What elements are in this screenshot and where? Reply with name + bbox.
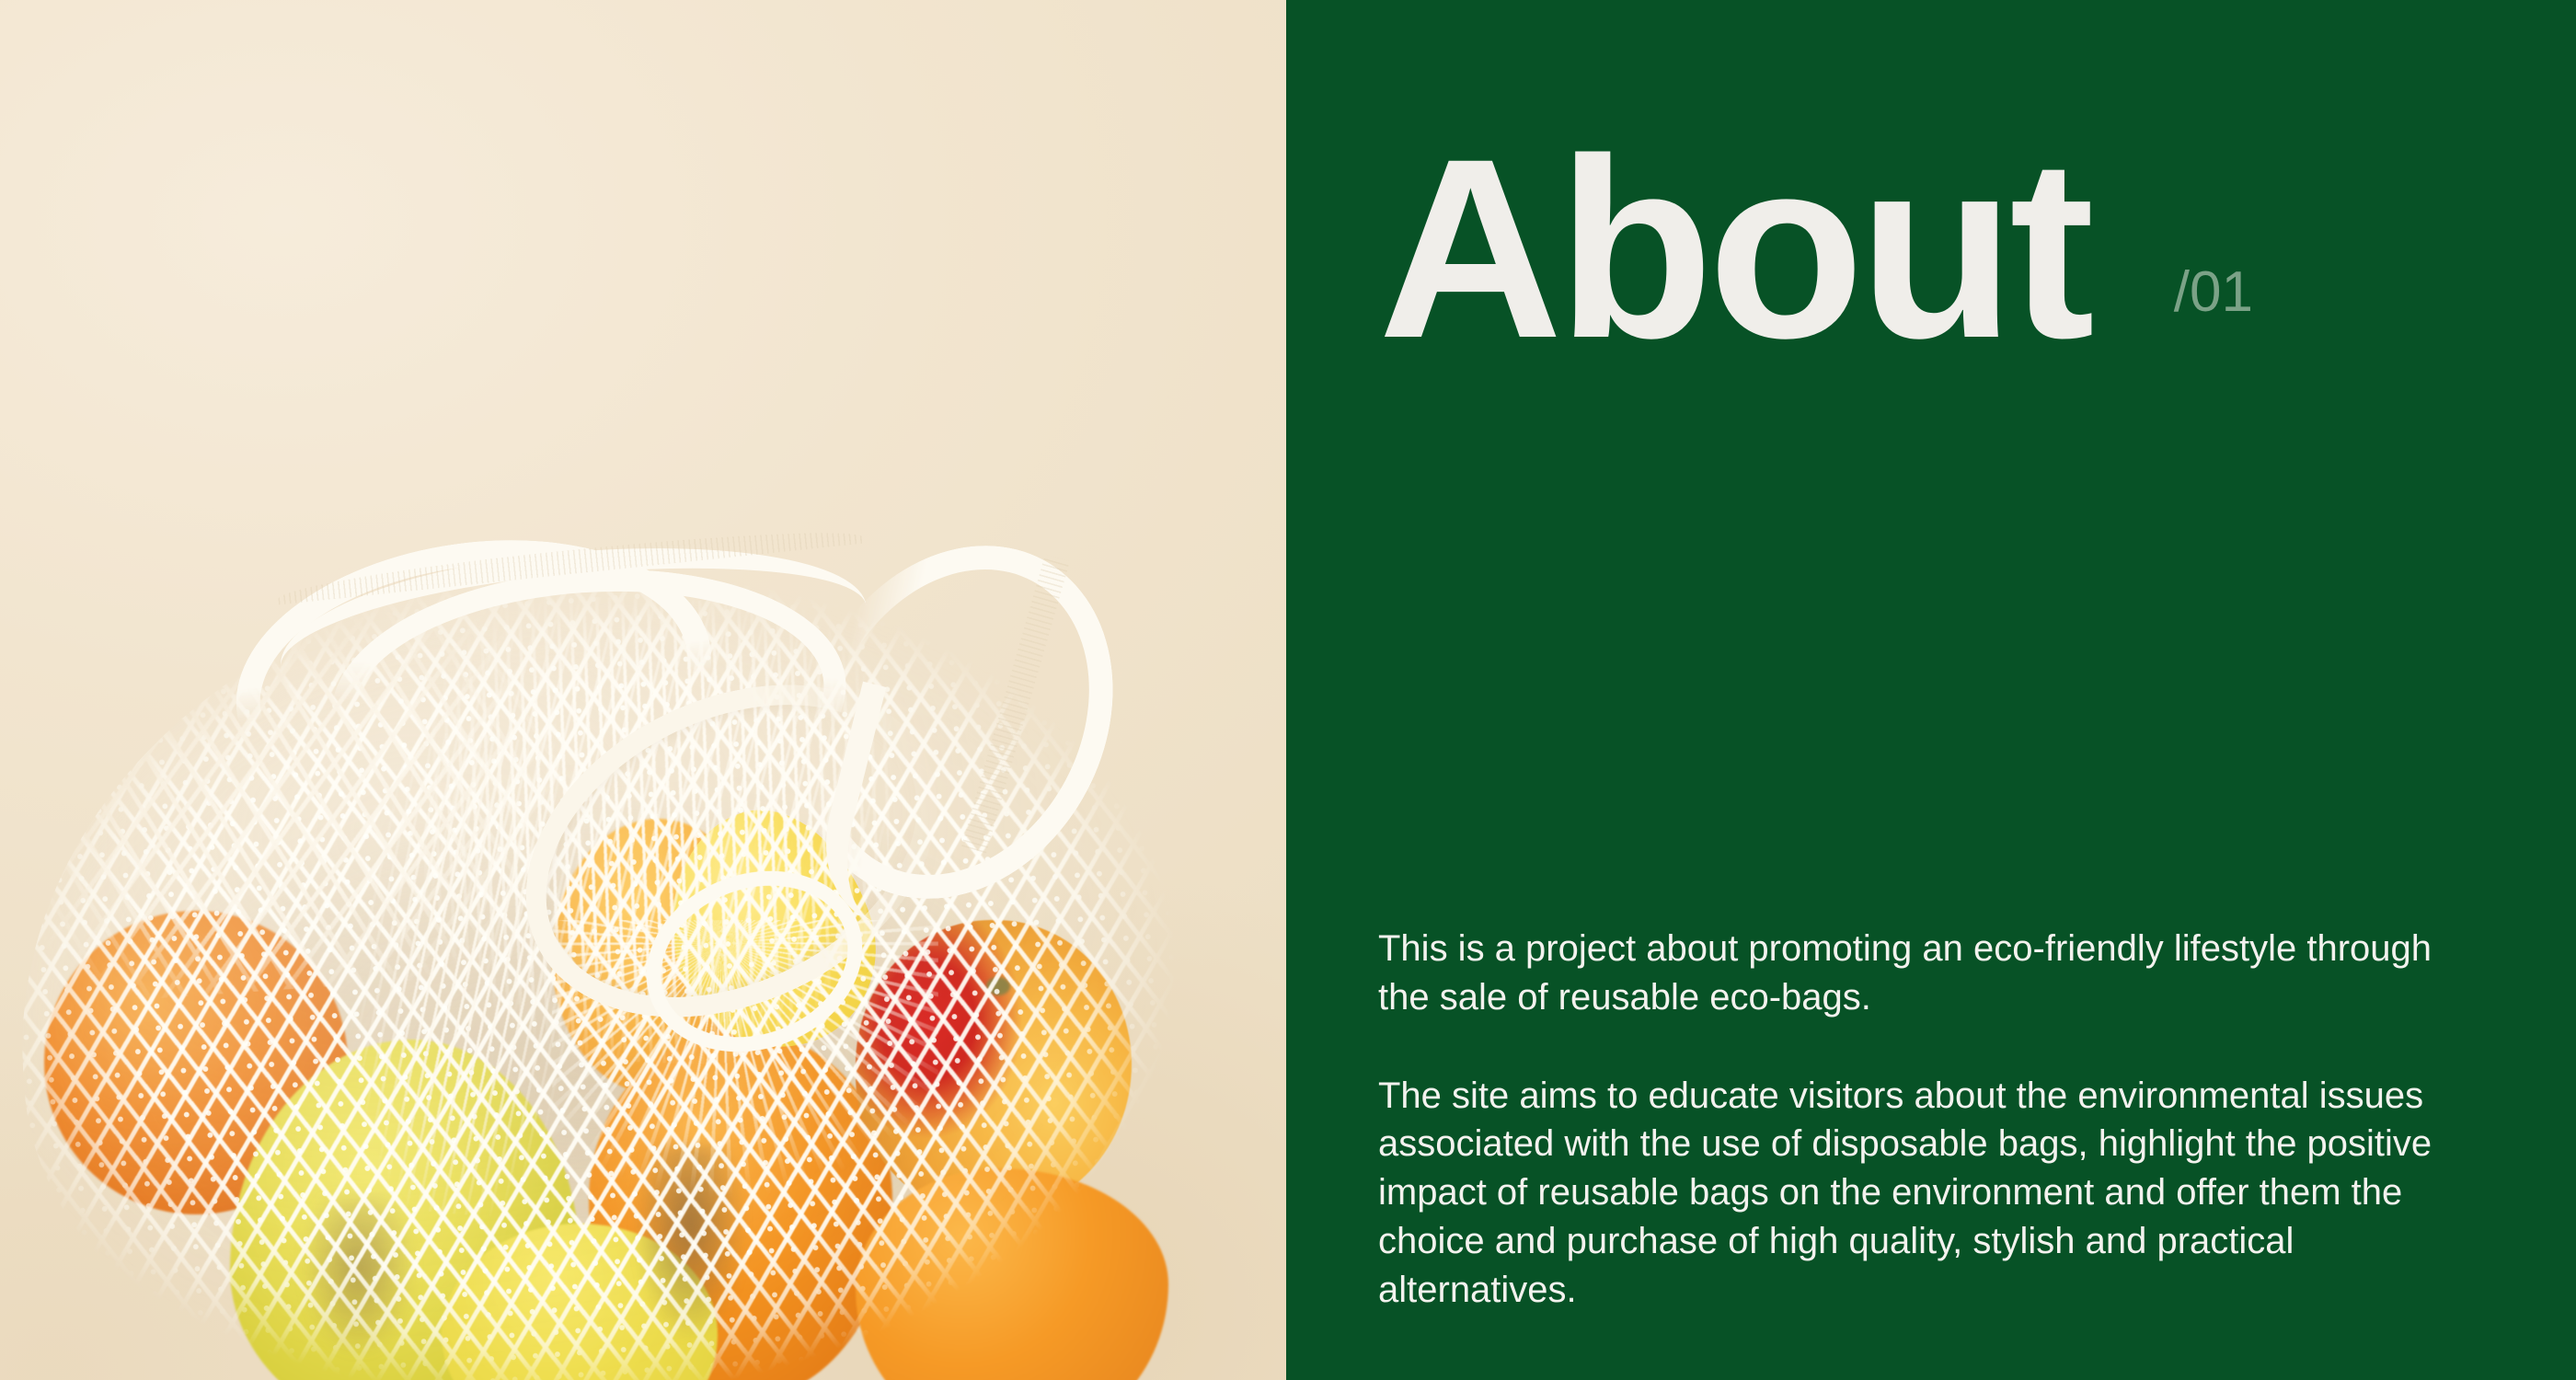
- section-index-label: /01: [2174, 259, 2253, 325]
- section-heading-row: About /01: [1378, 138, 2253, 358]
- about-slide: About /01 This is a project about promot…: [0, 0, 2576, 1380]
- about-paragraph-1: This is a project about promoting an eco…: [1378, 925, 2464, 1022]
- page-title: About: [1378, 138, 2089, 358]
- about-body-copy: This is a project about promoting an eco…: [1378, 925, 2464, 1315]
- about-paragraph-2: The site aims to educate visitors about …: [1378, 1072, 2464, 1315]
- about-content-panel: About /01 This is a project about promot…: [1286, 0, 2576, 1380]
- eco-bag-photo: [0, 0, 1286, 1380]
